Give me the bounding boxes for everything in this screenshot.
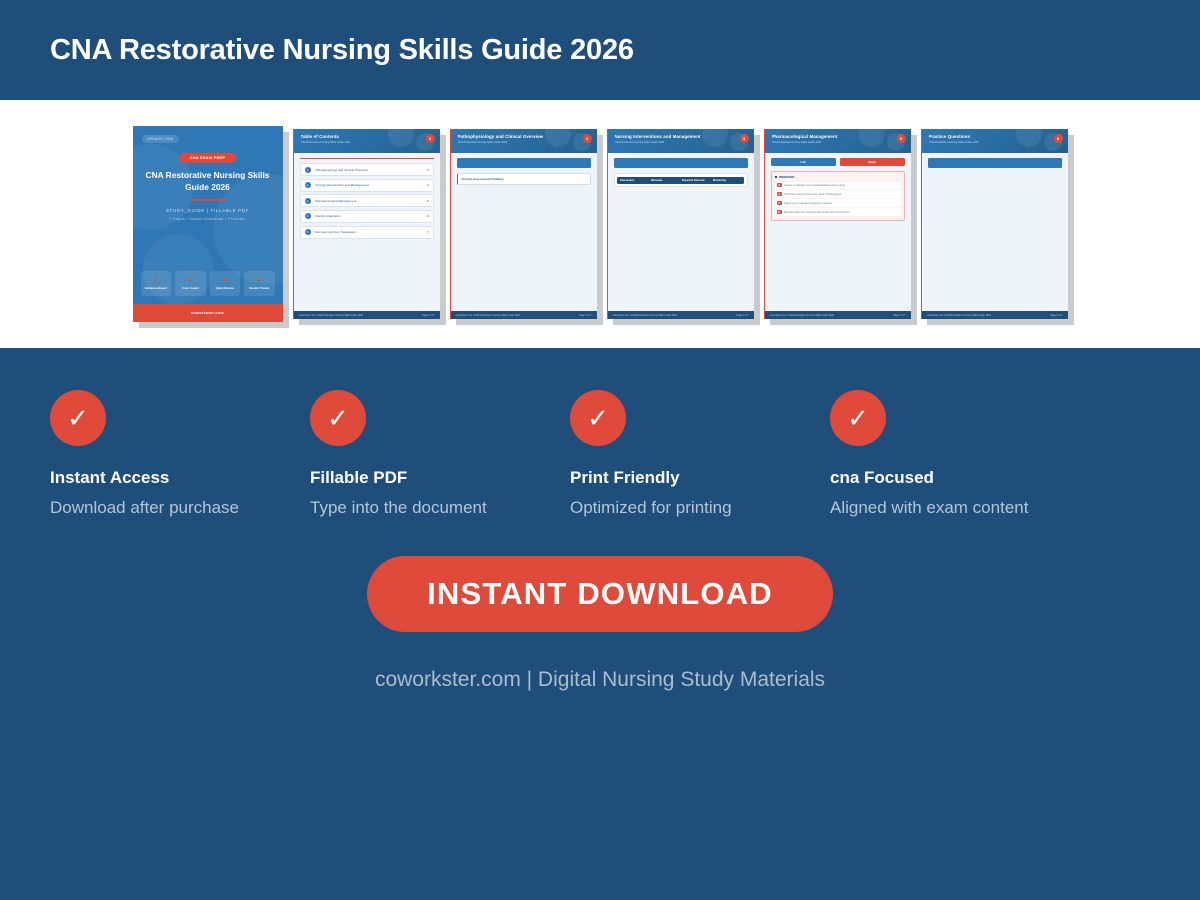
page-preview: Pharmacological Management CNA Restorati… bbox=[764, 129, 911, 319]
priority-callout: Priority Assessment Findings bbox=[457, 173, 591, 185]
page-header-band: Nursing Interventions and Management CNA… bbox=[608, 129, 754, 153]
check-icon: ✓ bbox=[153, 278, 158, 284]
cover-feature-label: Student Tested bbox=[249, 286, 269, 290]
mnemonic-box: MNEMONIC S Screen for allergies and cont… bbox=[771, 171, 905, 221]
page-heading: Table of Contents bbox=[301, 134, 433, 139]
page-header-band: Table of Contents CNA Restorative Nursin… bbox=[294, 129, 440, 153]
page-heading: Pathophysiology and Clinical Overview bbox=[458, 134, 590, 139]
feature-description: Download after purchase bbox=[50, 498, 310, 518]
thumbnail-page-2[interactable]: Table of Contents CNA Restorative Nursin… bbox=[293, 129, 440, 319]
feature-cna-focused: ✓ cna Focused Aligned with exam content bbox=[830, 390, 1090, 518]
toc-page-number: 5 bbox=[427, 199, 429, 203]
toc-item[interactable]: 2 Nursing Interventions and Management 4 bbox=[300, 179, 434, 192]
page-footer-left: coworkster.com | CNA Restorative Nursing… bbox=[613, 314, 677, 317]
toc-number: 5 bbox=[305, 229, 311, 235]
content-bar bbox=[614, 158, 748, 168]
check-icon: ✓ bbox=[50, 390, 106, 446]
toc-item[interactable]: 1 Pathophysiology and Clinical Overview … bbox=[300, 163, 434, 176]
cover-feature-box: ■ Quick Review bbox=[210, 271, 241, 296]
thumbnail-cover[interactable]: UPDATED 2026 CNA EXAM PREP CNA Restorati… bbox=[133, 126, 283, 322]
feature-fillable-pdf: ✓ Fillable PDF Type into the document bbox=[310, 390, 570, 518]
page-header-band: Practice Questions CNA Restorative Nursi… bbox=[922, 129, 1068, 153]
page-footer-right: Page 6 of 7 bbox=[1050, 314, 1062, 317]
feature-instant-access: ✓ Instant Access Download after purchase bbox=[50, 390, 310, 518]
page-content: Left Right MNEMONIC S Screen for allergi… bbox=[765, 153, 911, 311]
toc-number: 1 bbox=[305, 167, 311, 173]
table-column-header: Intervention bbox=[620, 179, 648, 182]
feature-title: Instant Access bbox=[50, 468, 310, 488]
cover-feature-box: ★ Color Coded bbox=[175, 271, 206, 296]
page-heading: Practice Questions bbox=[929, 134, 1061, 139]
mnemonic-text: Administer using correct route, dose, an… bbox=[784, 193, 841, 196]
page-content: Priority Assessment Findings bbox=[451, 153, 597, 311]
check-icon: ✓ bbox=[310, 390, 366, 446]
cover-subtitle: STUDY_GUIDE | FILLABLE PDF bbox=[133, 208, 283, 213]
page-header-band: Pathophysiology and Clinical Overview CN… bbox=[451, 129, 597, 153]
page-footer-right: Page 2 of 7 bbox=[422, 314, 434, 317]
cover-page: UPDATED 2026 CNA EXAM PREP CNA Restorati… bbox=[133, 126, 283, 322]
page-preview: Nursing Interventions and Management CNA… bbox=[607, 129, 754, 319]
star-icon: ★ bbox=[257, 278, 262, 284]
content-divider bbox=[300, 158, 434, 159]
toc-label: Summary and Key Takeaways bbox=[315, 230, 423, 234]
page-footer-right: Page 3 of 7 bbox=[579, 314, 591, 317]
left-button[interactable]: Left bbox=[771, 158, 836, 166]
star-icon: ★ bbox=[188, 278, 193, 284]
cover-footer: coworkster.com bbox=[133, 304, 283, 322]
check-icon: ✓ bbox=[570, 390, 626, 446]
page-subheading: CNA Restorative Nursing Skills Guide 202… bbox=[458, 141, 590, 144]
page-header-band: Pharmacological Management CNA Restorati… bbox=[765, 129, 911, 153]
bullet-icon: A bbox=[777, 192, 782, 197]
updated-badge: UPDATED 2026 bbox=[142, 135, 179, 143]
cover-feature-label: Quick Review bbox=[216, 286, 234, 290]
page-number-badge: 4 bbox=[740, 134, 749, 143]
page-heading: Pharmacological Management bbox=[772, 134, 904, 139]
thumbnail-page-3[interactable]: Pathophysiology and Clinical Overview CN… bbox=[450, 129, 597, 319]
exam-prep-pill: CNA EXAM PREP bbox=[179, 153, 236, 163]
content-bar bbox=[928, 158, 1062, 168]
feature-description: Aligned with exam content bbox=[830, 498, 1090, 518]
page-content: 1 Pathophysiology and Clinical Overview … bbox=[294, 153, 440, 311]
bullet-icon: F bbox=[777, 201, 782, 206]
page-footer: coworkster.com | CNA Restorative Nursing… bbox=[765, 311, 911, 319]
mnemonic-item: A Administer using correct route, dose, … bbox=[775, 190, 901, 197]
page-preview: Practice Questions CNA Restorative Nursi… bbox=[921, 129, 1068, 319]
page-footer: coworkster.com | CNA Restorative Nursing… bbox=[922, 311, 1068, 319]
table-column-header: Rationale bbox=[651, 179, 679, 182]
toc-label: Pharmacological Management bbox=[315, 199, 423, 203]
page-subheading: CNA Restorative Nursing Skills Guide 202… bbox=[929, 141, 1061, 144]
mnemonic-text: Follow up to evaluate therapeutic respon… bbox=[784, 202, 832, 205]
feature-title: Print Friendly bbox=[570, 468, 830, 488]
toc-item[interactable]: 3 Pharmacological Management 5 bbox=[300, 194, 434, 207]
page-footer-right: Page 4 of 7 bbox=[736, 314, 748, 317]
table-header-row: Intervention Rationale Expected Outcome … bbox=[617, 177, 744, 184]
toc-number: 4 bbox=[305, 213, 311, 219]
mnemonic-title: MNEMONIC bbox=[775, 175, 901, 179]
toc-number: 3 bbox=[305, 198, 311, 204]
mnemonic-item: S Screen for allergies and contraindicat… bbox=[775, 182, 901, 189]
page-number-badge: 2 bbox=[426, 134, 435, 143]
page-number-badge: 6 bbox=[1054, 134, 1063, 143]
page-subheading: CNA Restorative Nursing Skills Guide 202… bbox=[301, 141, 433, 144]
mnemonic-item: F Follow up to evaluate therapeutic resp… bbox=[775, 199, 901, 206]
feature-description: Optimized for printing bbox=[570, 498, 830, 518]
toc-item[interactable]: 5 Summary and Key Takeaways 7 bbox=[300, 226, 434, 239]
page-preview: Pathophysiology and Clinical Overview CN… bbox=[450, 129, 597, 319]
page-title: CNA Restorative Nursing Skills Guide 202… bbox=[50, 34, 634, 67]
feature-print-friendly: ✓ Print Friendly Optimized for printing bbox=[570, 390, 830, 518]
toc-item[interactable]: 4 Practice Questions 6 bbox=[300, 210, 434, 223]
table-column-header: Monitoring bbox=[713, 179, 741, 182]
instant-download-button[interactable]: INSTANT DOWNLOAD bbox=[367, 556, 833, 632]
page-number-badge: 5 bbox=[897, 134, 906, 143]
toc-page-number: 6 bbox=[427, 214, 429, 218]
mnemonic-text: Educate patient on expected effects and … bbox=[784, 211, 849, 214]
table-column-header: Expected Outcome bbox=[682, 179, 710, 182]
page-footer: coworkster.com | CNA Restorative Nursing… bbox=[294, 311, 440, 319]
cover-title: CNA Restorative Nursing Skills Guide 202… bbox=[133, 169, 283, 193]
toc-page-number: 3 bbox=[427, 168, 429, 172]
bullet-icon: S bbox=[777, 183, 782, 188]
site-footer: coworkster.com | Digital Nursing Study M… bbox=[0, 668, 1200, 692]
toc-label: Pathophysiology and Clinical Overview bbox=[315, 168, 423, 172]
page-number-badge: 3 bbox=[583, 134, 592, 143]
thumbnail-page-4[interactable]: Nursing Interventions and Management CNA… bbox=[607, 129, 754, 319]
page-footer-left: coworkster.com | CNA Restorative Nursing… bbox=[770, 314, 834, 317]
toc-number: 2 bbox=[305, 182, 311, 188]
content-bar bbox=[457, 158, 591, 168]
right-button[interactable]: Right bbox=[840, 158, 905, 166]
page-preview: Table of Contents CNA Restorative Nursin… bbox=[293, 129, 440, 319]
cover-feature-label: Color Coded bbox=[182, 286, 199, 290]
page-heading: Nursing Interventions and Management bbox=[615, 134, 747, 139]
page-subheading: CNA Restorative Nursing Skills Guide 202… bbox=[772, 141, 904, 144]
page-footer: coworkster.com | CNA Restorative Nursing… bbox=[451, 311, 597, 319]
cover-feature-box: ★ Student Tested bbox=[244, 271, 275, 296]
page-header: CNA Restorative Nursing Skills Guide 202… bbox=[0, 0, 1200, 100]
feature-title: cna Focused bbox=[830, 468, 1090, 488]
cta-row: INSTANT DOWNLOAD bbox=[0, 556, 1200, 632]
bullet-icon: E bbox=[777, 210, 782, 215]
cover-divider bbox=[191, 199, 225, 201]
mnemonic-text: Screen for allergies and contraindicatio… bbox=[784, 184, 845, 187]
toc-label: Nursing Interventions and Management bbox=[315, 183, 423, 187]
thumbnail-strip: UPDATED 2026 CNA EXAM PREP CNA Restorati… bbox=[0, 100, 1200, 348]
toc-page-number: 4 bbox=[427, 183, 429, 187]
square-icon: ■ bbox=[223, 278, 227, 284]
cover-feature-boxes: ✓ Evidence Based ★ Color Coded ■ Quick R… bbox=[141, 271, 275, 296]
page-footer-right: Page 5 of 7 bbox=[893, 314, 905, 317]
cover-feature-label: Evidence Based bbox=[145, 286, 166, 290]
page-footer-left: coworkster.com | CNA Restorative Nursing… bbox=[299, 314, 363, 317]
page-footer-left: coworkster.com | CNA Restorative Nursing… bbox=[456, 314, 520, 317]
page-footer-left: coworkster.com | CNA Restorative Nursing… bbox=[927, 314, 991, 317]
toc-label: Practice Questions bbox=[315, 214, 423, 218]
page-content bbox=[922, 153, 1068, 311]
page-content: Intervention Rationale Expected Outcome … bbox=[608, 153, 754, 311]
feature-title: Fillable PDF bbox=[310, 468, 570, 488]
thumbnail-page-5[interactable]: Pharmacological Management CNA Restorati… bbox=[764, 129, 911, 319]
page-subheading: CNA Restorative Nursing Skills Guide 202… bbox=[615, 141, 747, 144]
cover-feature-box: ✓ Evidence Based bbox=[141, 271, 172, 296]
interventions-table: Intervention Rationale Expected Outcome … bbox=[614, 173, 748, 187]
toc-page-number: 7 bbox=[427, 230, 429, 234]
comparison-buttons: Left Right bbox=[771, 158, 905, 166]
thumbnail-page-6[interactable]: Practice Questions CNA Restorative Nursi… bbox=[921, 129, 1068, 319]
cover-meta: 7 Pages • Instant Download • Printable bbox=[133, 217, 283, 221]
feature-list: ✓ Instant Access Download after purchase… bbox=[0, 348, 1200, 518]
check-icon: ✓ bbox=[830, 390, 886, 446]
page-footer: coworkster.com | CNA Restorative Nursing… bbox=[608, 311, 754, 319]
feature-description: Type into the document bbox=[310, 498, 570, 518]
mnemonic-item: E Educate patient on expected effects an… bbox=[775, 208, 901, 215]
